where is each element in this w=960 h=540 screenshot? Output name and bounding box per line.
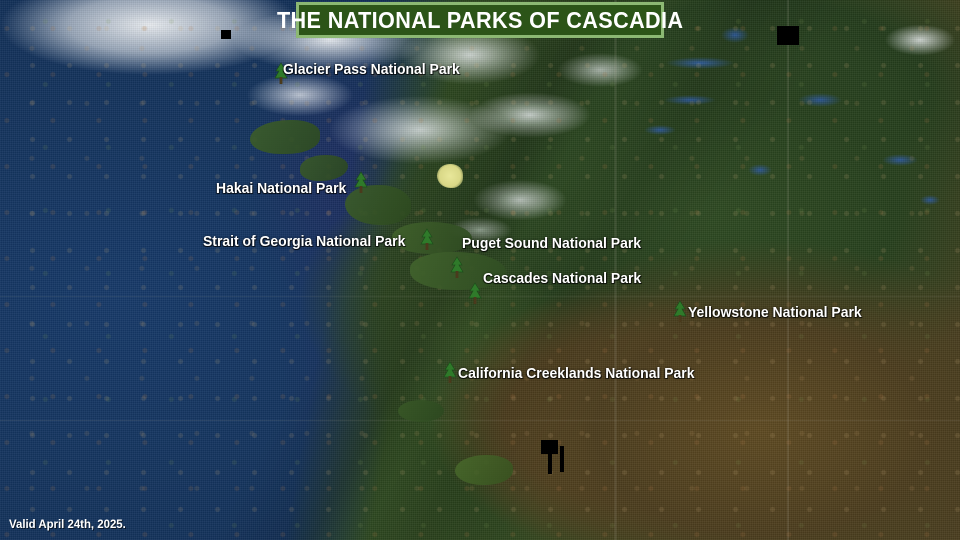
island-patch	[455, 455, 513, 485]
island-patch	[398, 400, 444, 422]
page-title: THE NATIONAL PARKS OF CASCADIA	[277, 7, 683, 34]
park-label-strait-of-georgia: Strait of Georgia National Park	[203, 233, 405, 250]
imagery-data-void	[777, 26, 799, 45]
park-label-yellowstone: Yellowstone National Park	[688, 304, 862, 321]
park-label-hakai: Hakai National Park	[216, 180, 346, 197]
island-patch	[250, 120, 320, 154]
park-label-california-creeklands: California Creeklands National Park	[458, 365, 694, 382]
conifer-tree-icon	[352, 171, 370, 195]
validity-date-note: Valid April 24th, 2025.	[9, 517, 126, 531]
conifer-tree-icon	[418, 228, 436, 252]
imagery-data-void	[221, 30, 231, 39]
imagery-data-void	[560, 446, 564, 472]
conifer-tree-icon	[448, 256, 466, 280]
park-label-glacier-pass: Glacier Pass National Park	[283, 61, 460, 78]
conifer-tree-icon	[671, 300, 689, 324]
conifer-tree-icon	[466, 282, 484, 306]
yellow-terrain-patch	[437, 164, 463, 188]
park-label-puget-sound: Puget Sound National Park	[462, 235, 641, 252]
imagery-data-void	[548, 452, 552, 474]
map-screenshot: THE NATIONAL PARKS OF CASCADIA Glacier P…	[0, 0, 960, 540]
conifer-tree-icon	[441, 361, 459, 385]
park-label-cascades: Cascades National Park	[483, 270, 641, 287]
map-title-banner: THE NATIONAL PARKS OF CASCADIA	[296, 2, 664, 38]
